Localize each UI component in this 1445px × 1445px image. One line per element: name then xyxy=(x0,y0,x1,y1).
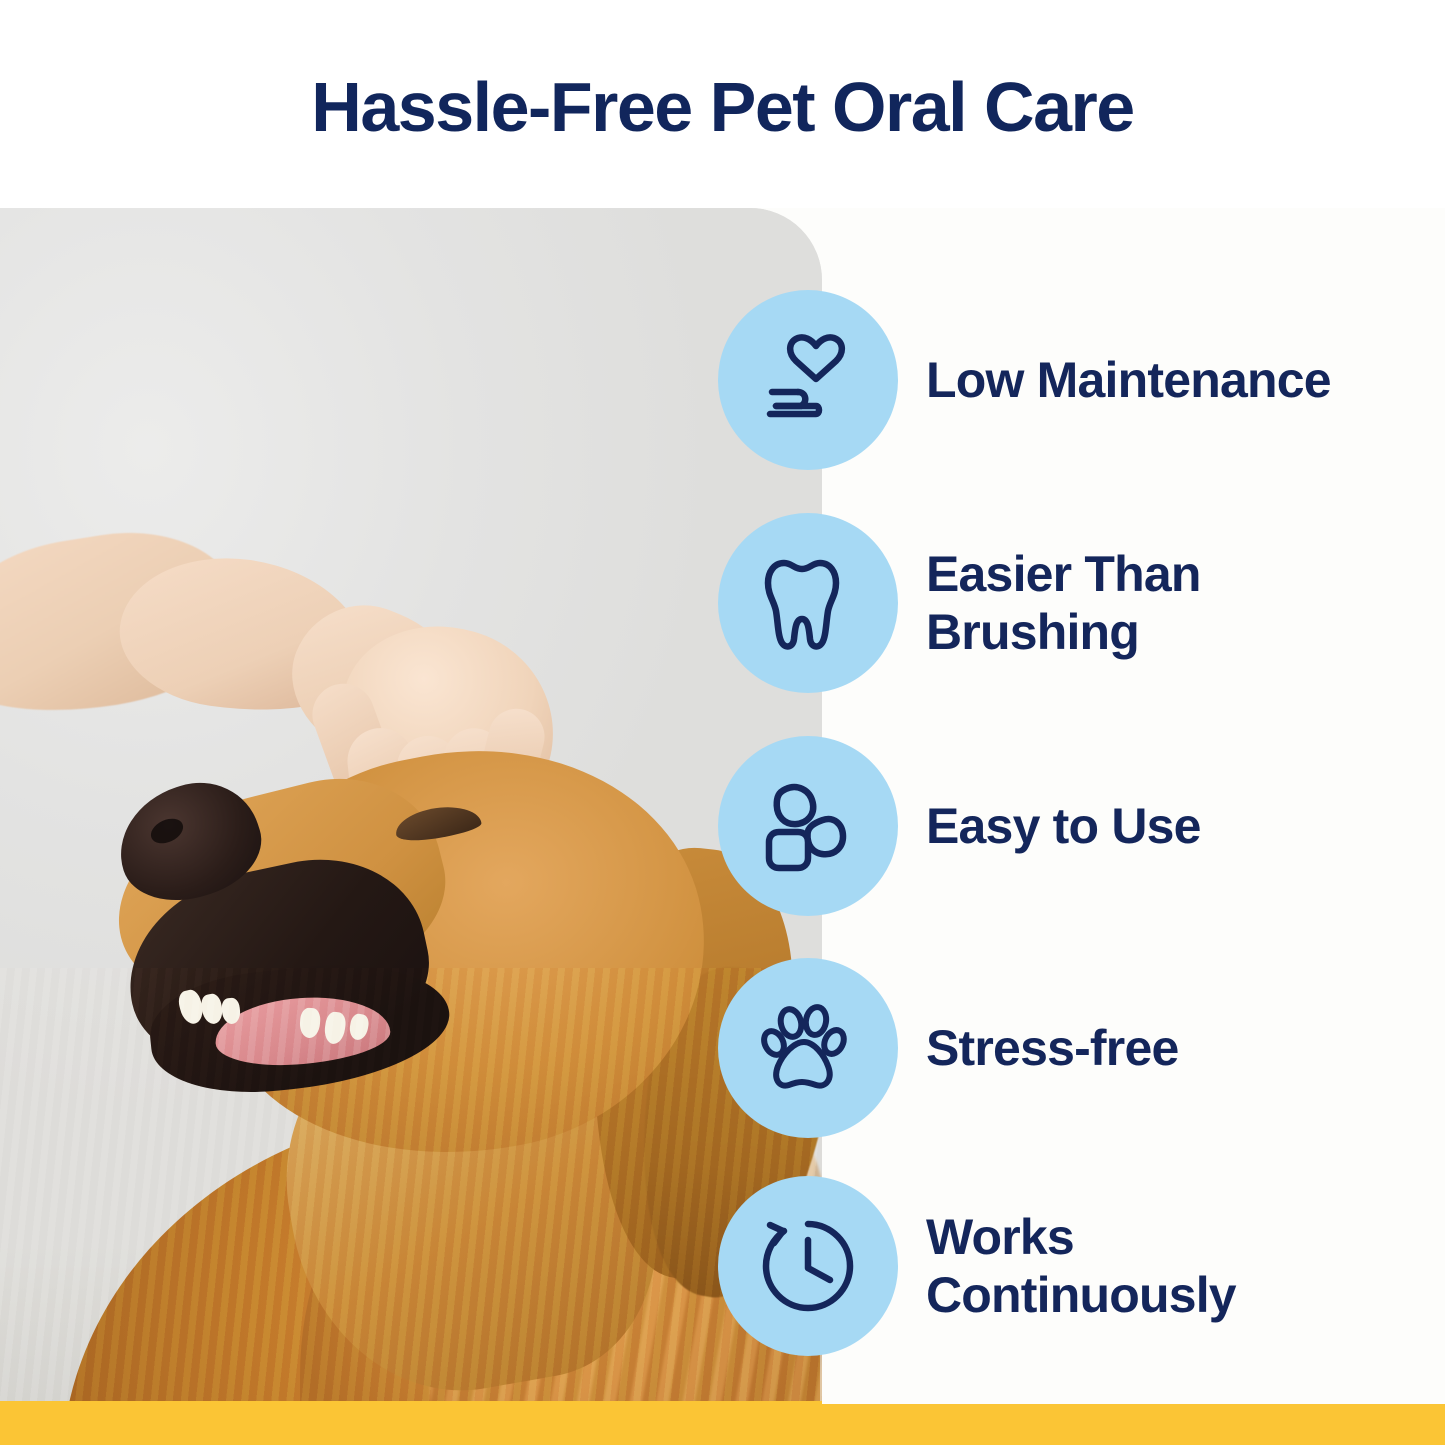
feature-item-easy-to-use[interactable]: Easy to Use xyxy=(718,736,1201,916)
paw-print-icon xyxy=(718,958,898,1138)
feature-item-low-maintenance[interactable]: Low Maintenance xyxy=(718,290,1331,470)
page-title: Hassle-Free Pet Oral Care xyxy=(311,66,1133,142)
product-photo xyxy=(0,208,822,1404)
feature-label: Stress-free xyxy=(926,1019,1178,1077)
feature-item-stress-free[interactable]: Stress-free xyxy=(718,958,1178,1138)
chew-treats-icon xyxy=(718,736,898,916)
feature-item-easier-than-brushing[interactable]: Easier Than Brushing xyxy=(718,513,1396,693)
header: Hassle-Free Pet Oral Care xyxy=(0,0,1445,208)
feature-list: Low Maintenance Easier Than Brushing Eas… xyxy=(718,208,1445,1404)
heart-in-hand-icon xyxy=(718,290,898,470)
promo-banner: Hassle-Free Pet Oral Care xyxy=(0,0,1445,1445)
bottom-accent-bar xyxy=(0,1404,1445,1445)
feature-item-works-continuously[interactable]: Works Continuously xyxy=(718,1176,1396,1356)
tooth-icon xyxy=(718,513,898,693)
feature-label: Easier Than Brushing xyxy=(926,545,1396,661)
feature-label: Works Continuously xyxy=(926,1208,1396,1324)
feature-label: Low Maintenance xyxy=(926,351,1331,409)
feature-label: Easy to Use xyxy=(926,797,1201,855)
clock-refresh-icon xyxy=(718,1176,898,1356)
